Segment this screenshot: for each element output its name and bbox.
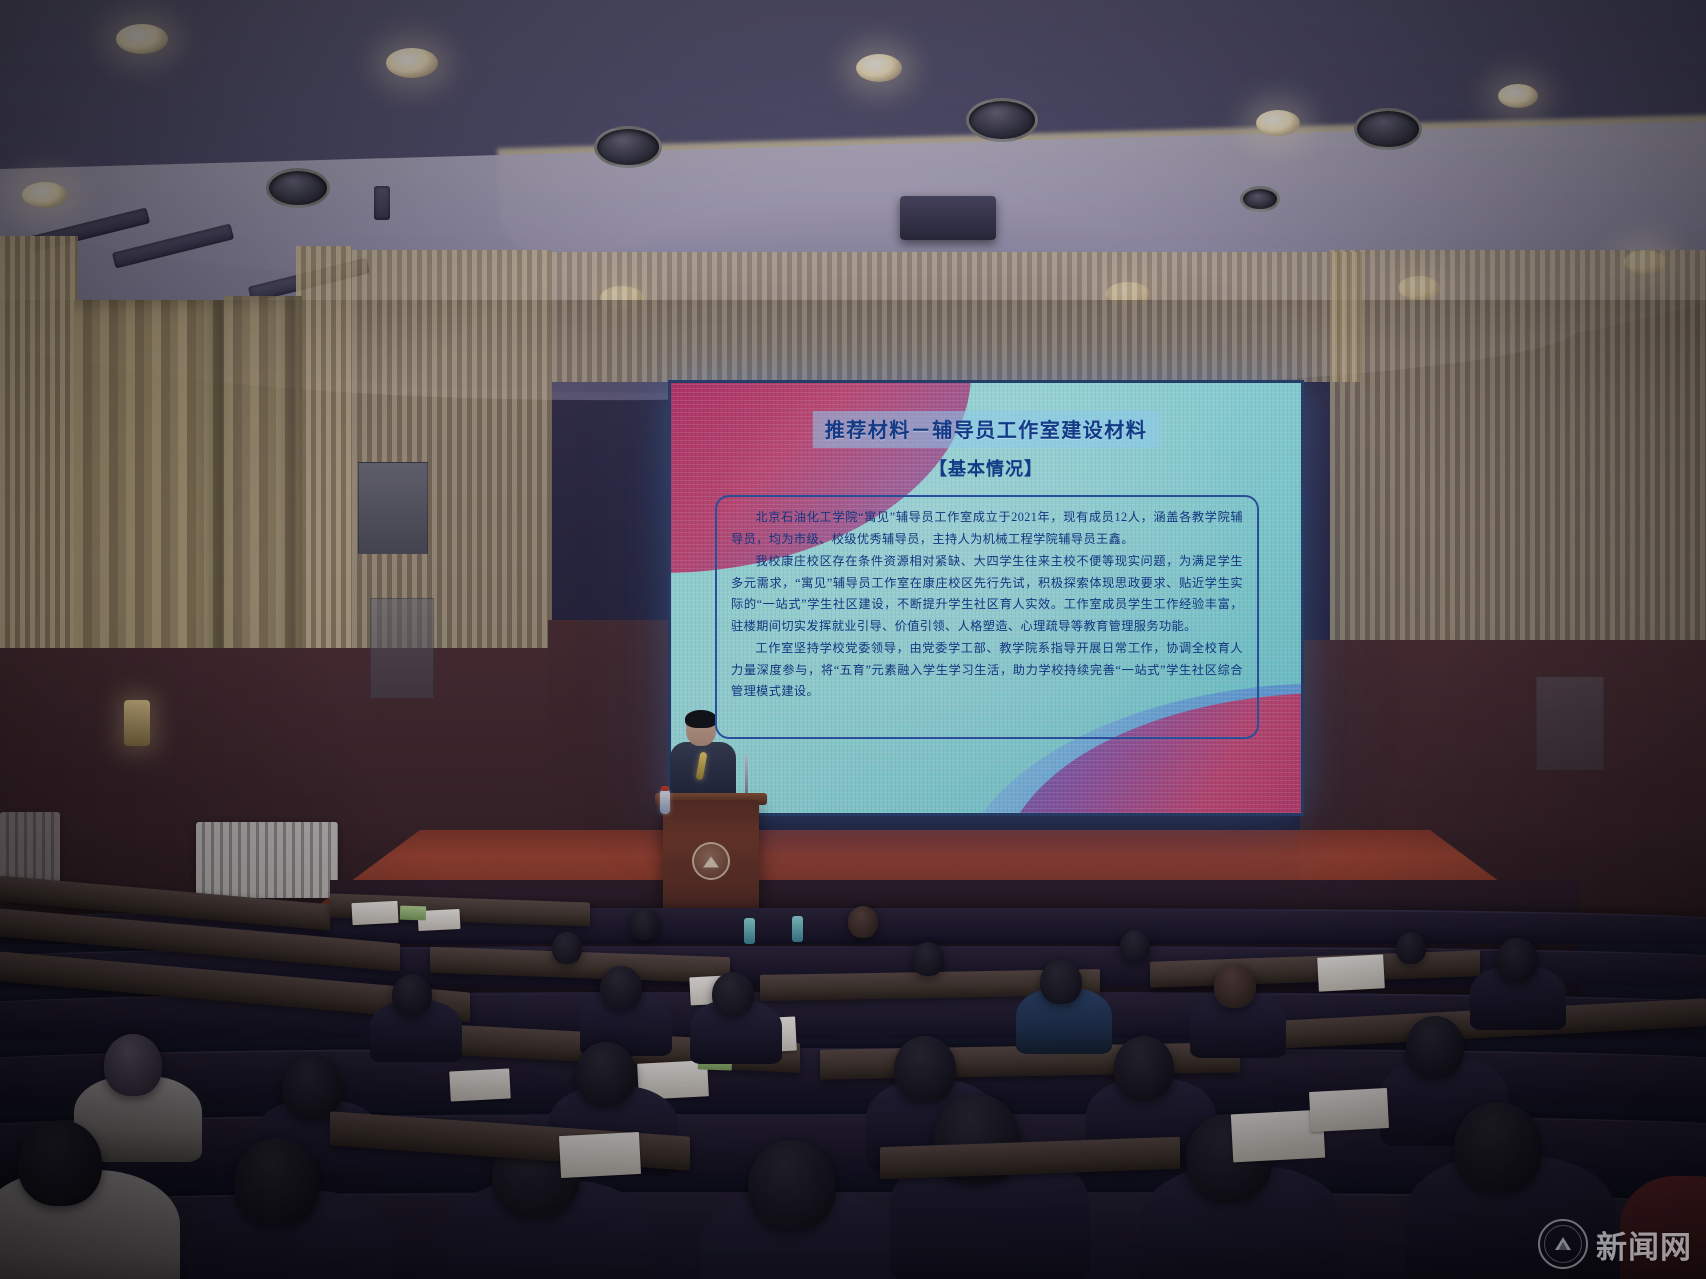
audience-head bbox=[912, 942, 944, 976]
slide-paragraph: 北京石油化工学院“寓见”辅导员工作室成立于2021年，现有成员12人，涵盖各教学… bbox=[731, 507, 1243, 550]
audience-head bbox=[18, 1120, 102, 1206]
ceiling-downlight bbox=[22, 182, 68, 208]
projector-housing bbox=[900, 196, 996, 240]
water-bottle bbox=[792, 916, 803, 942]
audience-seating bbox=[0, 880, 1706, 1279]
slide-paragraph: 我校康庄校区存在条件资源相对紧缺、大四学生往来主校不便等现实问题，为满足学生多元… bbox=[731, 551, 1243, 637]
ceiling-downlight bbox=[856, 54, 902, 82]
audience-head bbox=[630, 908, 660, 940]
document-on-desk bbox=[449, 1068, 510, 1101]
audience-head bbox=[1454, 1102, 1542, 1192]
wall-wood-slats-left bbox=[296, 246, 352, 666]
document-on-desk bbox=[559, 1132, 641, 1178]
audience-head bbox=[576, 1042, 636, 1106]
wall-wood-slats-left bbox=[0, 236, 78, 696]
slide-content: 推荐材料－辅导员工作室建设材料 【基本情况】 北京石油化工学院“寓见”辅导员工作… bbox=[671, 383, 1301, 813]
auditorium-photo: 推荐材料－辅导员工作室建设材料 【基本情况】 北京石油化工学院“寓见”辅导员工作… bbox=[0, 0, 1706, 1279]
window-curtain-left bbox=[74, 300, 224, 700]
audience-head bbox=[1214, 964, 1256, 1008]
audience-head bbox=[104, 1034, 162, 1096]
wall-wood-slats-right bbox=[1330, 250, 1706, 650]
document-on-desk bbox=[1309, 1088, 1389, 1132]
slide-text-box: 北京石油化工学院“寓见”辅导员工作室成立于2021年，现有成员12人，涵盖各教学… bbox=[715, 495, 1259, 739]
radiator bbox=[0, 812, 60, 882]
audience-head bbox=[1114, 1036, 1174, 1100]
wall-sconce-light bbox=[124, 700, 150, 746]
wall-acoustic-panel bbox=[1536, 676, 1604, 770]
audience-head bbox=[894, 1036, 956, 1102]
ceiling-downlight bbox=[1498, 84, 1538, 108]
audience-head bbox=[712, 972, 754, 1016]
slide-paragraph: 工作室坚持学校党委领导，由党委学工部、教学院系指导开展日常工作，协调全校育人力量… bbox=[731, 638, 1243, 703]
watermark: 新闻网 bbox=[1538, 1219, 1692, 1269]
wall-wood-slats-center bbox=[552, 252, 1362, 382]
audience-head bbox=[1406, 1016, 1464, 1078]
audience-head bbox=[1396, 932, 1426, 964]
audience-head bbox=[282, 1056, 342, 1120]
window-curtain-left bbox=[224, 296, 302, 688]
university-seal-icon bbox=[1538, 1219, 1588, 1269]
wall-acoustic-panel bbox=[370, 598, 434, 698]
ceiling-speaker-icon bbox=[266, 168, 330, 208]
ceiling-downlight bbox=[1256, 110, 1300, 136]
water-bottle bbox=[744, 918, 755, 944]
wall-acoustic-panel bbox=[358, 462, 428, 554]
wall-wood-slats-left bbox=[352, 250, 552, 650]
ceiling-downlight bbox=[116, 24, 168, 54]
audience-head bbox=[1496, 938, 1538, 982]
audience-head bbox=[1040, 960, 1082, 1004]
audience-head bbox=[234, 1138, 320, 1226]
ceiling-speaker-icon bbox=[1354, 108, 1422, 150]
water-bottle bbox=[660, 790, 670, 814]
watermark-text: 新闻网 bbox=[1596, 1222, 1692, 1267]
ceiling-air-vent bbox=[374, 186, 390, 220]
audience-head bbox=[600, 966, 642, 1010]
notebook-on-desk bbox=[400, 906, 426, 921]
ceiling-downlight bbox=[386, 48, 438, 78]
document-on-desk bbox=[351, 901, 398, 925]
ceiling-speaker-icon bbox=[594, 126, 662, 168]
slide-subtitle: 【基本情况】 bbox=[929, 455, 1043, 481]
presentation-screen[interactable]: 推荐材料－辅导员工作室建设材料 【基本情况】 北京石油化工学院“寓见”辅导员工作… bbox=[668, 380, 1304, 816]
audience-head bbox=[748, 1140, 836, 1230]
document-on-desk bbox=[1317, 954, 1385, 991]
audience-head bbox=[392, 974, 432, 1016]
ceiling-speaker-icon bbox=[1240, 186, 1280, 212]
audience-head bbox=[848, 906, 878, 938]
ceiling-speaker-icon bbox=[966, 98, 1038, 142]
audience-head bbox=[1120, 930, 1150, 962]
university-emblem-icon bbox=[692, 842, 730, 880]
slide-title: 推荐材料－辅导员工作室建设材料 bbox=[813, 411, 1160, 448]
audience-head bbox=[552, 932, 582, 964]
